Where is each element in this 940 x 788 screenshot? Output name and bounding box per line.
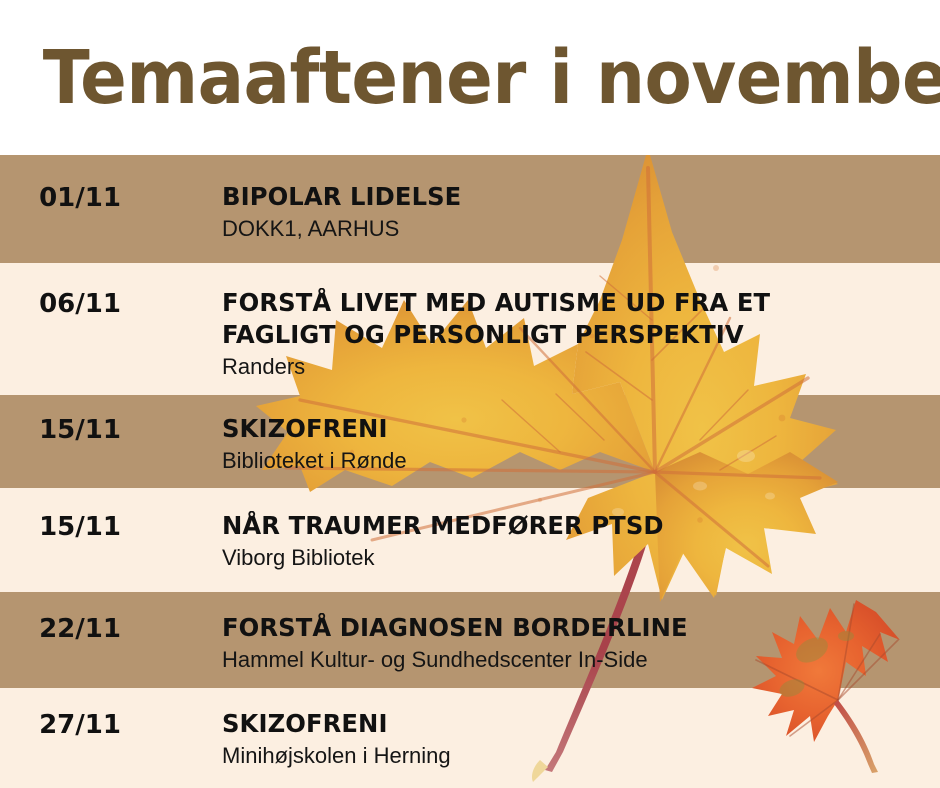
- event-date: 27/11: [0, 708, 160, 740]
- event-body: FORSTÅ LIVET MED AUTISME UD FRA ET FAGLI…: [160, 287, 940, 382]
- event-date: 06/11: [0, 287, 160, 319]
- event-date: 01/11: [0, 181, 160, 213]
- event-title: FORSTÅ DIAGNOSEN BORDERLINE: [222, 612, 918, 644]
- title-banner: Temaaftener i november: [0, 0, 940, 155]
- event-row: 27/11SKIZOFRENIMinihøjskolen i Herning: [0, 708, 940, 771]
- event-row: 06/11FORSTÅ LIVET MED AUTISME UD FRA ET …: [0, 287, 940, 382]
- event-row: 15/11SKIZOFRENIBiblioteket i Rønde: [0, 413, 940, 476]
- event-body: SKIZOFRENIMinihøjskolen i Herning: [160, 708, 940, 771]
- event-title: NÅR TRAUMER MEDFØRER PTSD: [222, 510, 918, 542]
- event-body: NÅR TRAUMER MEDFØRER PTSDViborg Bibliote…: [160, 510, 940, 573]
- event-body: FORSTÅ DIAGNOSEN BORDERLINEHammel Kultur…: [160, 612, 940, 675]
- event-row: 15/11NÅR TRAUMER MEDFØRER PTSDViborg Bib…: [0, 510, 940, 573]
- event-title: BIPOLAR LIDELSE: [222, 181, 918, 213]
- event-venue: Biblioteket i Rønde: [222, 447, 940, 476]
- event-venue: DOKK1, AARHUS: [222, 215, 940, 244]
- event-title: SKIZOFRENI: [222, 413, 918, 445]
- event-date: 15/11: [0, 510, 160, 542]
- event-row: 22/11FORSTÅ DIAGNOSEN BORDERLINEHammel K…: [0, 612, 940, 675]
- page-title: Temaaftener i november: [0, 41, 940, 115]
- event-venue: Hammel Kultur- og Sundhedscenter In-Side: [222, 646, 940, 675]
- event-date: 22/11: [0, 612, 160, 644]
- event-title: FORSTÅ LIVET MED AUTISME UD FRA ET FAGLI…: [222, 287, 918, 351]
- poster-canvas: 01/11BIPOLAR LIDELSEDOKK1, AARHUS06/11FO…: [0, 0, 940, 788]
- event-body: BIPOLAR LIDELSEDOKK1, AARHUS: [160, 181, 940, 244]
- event-date: 15/11: [0, 413, 160, 445]
- event-row: 01/11BIPOLAR LIDELSEDOKK1, AARHUS: [0, 181, 940, 244]
- event-venue: Randers: [222, 353, 940, 382]
- event-title: SKIZOFRENI: [222, 708, 918, 740]
- event-venue: Minihøjskolen i Herning: [222, 742, 940, 771]
- event-venue: Viborg Bibliotek: [222, 544, 940, 573]
- event-body: SKIZOFRENIBiblioteket i Rønde: [160, 413, 940, 476]
